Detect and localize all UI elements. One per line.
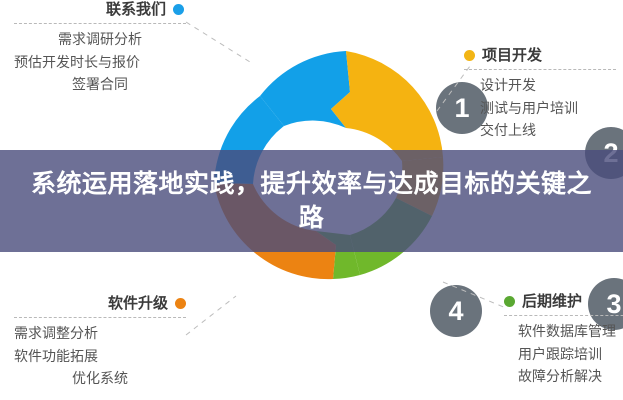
- green-dot-icon: [504, 296, 515, 307]
- list-item: 故障分析解决: [504, 365, 623, 388]
- list-item: 签署合同: [14, 73, 186, 96]
- block-heading: 软件升级: [14, 296, 186, 311]
- block-heading: 联系我们: [14, 2, 186, 17]
- list-item: 预估开发时长与报价: [14, 51, 186, 74]
- list-item: 优化系统: [14, 367, 186, 390]
- divider: [504, 315, 623, 316]
- block-post-maintenance: 后期维护 软件数据库管理 用户跟踪培训 故障分析解决: [504, 294, 623, 388]
- divider: [14, 317, 186, 318]
- block-heading: 后期维护: [504, 294, 623, 309]
- orange-dot-icon: [175, 298, 186, 309]
- list-item: 测试与用户培训: [464, 97, 616, 120]
- block-project-development: 项目开发 设计开发 测试与用户培训 交付上线: [464, 48, 616, 142]
- block-heading-label: 项目开发: [482, 48, 542, 63]
- block-heading-label: 软件升级: [108, 296, 168, 311]
- list-item: 设计开发: [464, 74, 616, 97]
- block-item-list: 需求调整分析 软件功能拓展 优化系统: [14, 322, 186, 390]
- page-title: 系统运用落地实践，提升效率与达成目标的关键之路: [0, 167, 623, 235]
- block-item-list: 设计开发 测试与用户培训 交付上线: [464, 74, 616, 142]
- list-item: 需求调整分析: [14, 322, 186, 345]
- list-item: 用户跟踪培训: [504, 343, 623, 366]
- list-item: 交付上线: [464, 119, 616, 142]
- block-software-upgrade: 软件升级 需求调整分析 软件功能拓展 优化系统: [14, 296, 186, 390]
- connector-bottom-left: [186, 296, 236, 335]
- block-heading: 项目开发: [464, 48, 616, 63]
- blue-dot-icon: [173, 4, 184, 15]
- divider: [14, 23, 186, 24]
- divider: [464, 69, 616, 70]
- block-heading-label: 联系我们: [106, 2, 166, 17]
- yellow-dot-icon: [464, 50, 475, 61]
- block-item-list: 软件数据库管理 用户跟踪培训 故障分析解决: [504, 320, 623, 388]
- cycle-marker-4: 4: [430, 285, 482, 337]
- block-contact-us: 联系我们 需求调研分析 预估开发时长与报价 签署合同: [14, 2, 186, 96]
- title-banner: 系统运用落地实践，提升效率与达成目标的关键之路: [0, 150, 623, 252]
- block-heading-label: 后期维护: [522, 294, 582, 309]
- list-item: 软件功能拓展: [14, 345, 186, 368]
- list-item: 需求调研分析: [14, 28, 186, 51]
- list-item: 软件数据库管理: [504, 320, 623, 343]
- infographic-canvas: 1 2 3 4 联系我们 需求调研分析 预估开发时长与报价 签署合同 项目开发 …: [0, 0, 623, 400]
- block-item-list: 需求调研分析 预估开发时长与报价 签署合同: [14, 28, 186, 96]
